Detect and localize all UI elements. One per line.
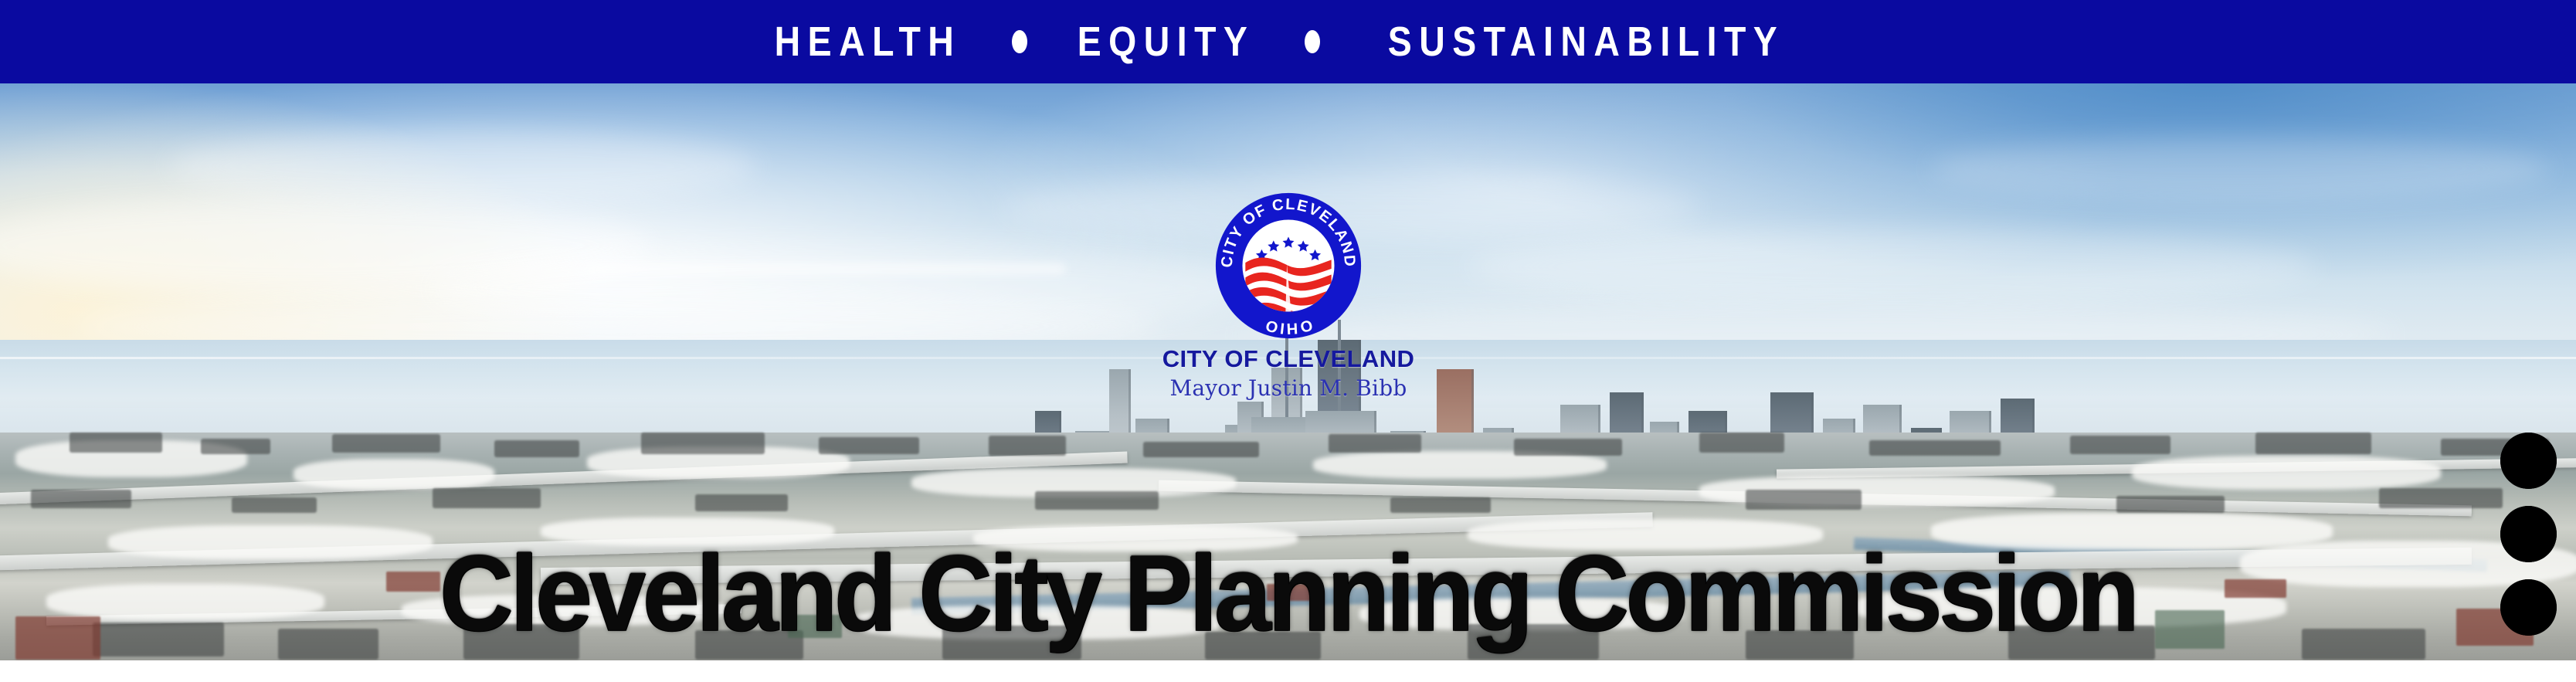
urban-block bbox=[695, 494, 788, 511]
logo-city-name: CITY OF CLEVELAND bbox=[1041, 346, 1536, 372]
tagline-bullet-icon-2 bbox=[1305, 30, 1320, 53]
city-of-cleveland-seal-icon: CITY OF CLEVELAND OHIO bbox=[1214, 192, 1363, 340]
urban-block bbox=[2070, 436, 2170, 454]
page-title: Cleveland City Planning Commission bbox=[53, 542, 2524, 644]
snow-patch bbox=[2132, 456, 2441, 490]
social-link-youtube[interactable] bbox=[2500, 433, 2557, 489]
urban-block bbox=[70, 433, 162, 453]
social-link-instagram[interactable] bbox=[2500, 506, 2557, 562]
urban-block bbox=[1329, 434, 1421, 453]
page-title-text: Cleveland City Planning Commission bbox=[440, 539, 2136, 647]
page-root: HEALTH EQUITY SUSTAINABILITY bbox=[0, 0, 2576, 682]
social-link-facebook[interactable] bbox=[2500, 579, 2557, 636]
city-logo-block: CITY OF CLEVELAND OHIO bbox=[1041, 192, 1536, 401]
urban-block bbox=[494, 440, 579, 457]
urban-block bbox=[31, 490, 131, 508]
cloud bbox=[1931, 137, 2549, 199]
urban-block bbox=[989, 436, 1066, 456]
urban-block bbox=[201, 439, 270, 454]
cloud-contrail bbox=[587, 263, 1066, 275]
urban-block bbox=[2379, 488, 2503, 508]
tagline-word-health: HEALTH bbox=[773, 21, 962, 63]
cloud bbox=[1468, 230, 2317, 304]
snow-patch bbox=[294, 459, 494, 490]
tagline-word-equity: EQUITY bbox=[1076, 21, 1256, 63]
urban-block bbox=[1514, 439, 1622, 456]
urban-block bbox=[1699, 433, 1784, 453]
logo-mayor-name: Mayor Justin M. Bibb bbox=[1041, 376, 1536, 401]
urban-block bbox=[2255, 433, 2371, 454]
urban-block bbox=[232, 497, 317, 513]
cloud bbox=[170, 130, 757, 203]
urban-block bbox=[2116, 496, 2225, 513]
urban-block bbox=[1143, 442, 1259, 457]
tagline-row: HEALTH EQUITY SUSTAINABILITY bbox=[758, 21, 1818, 63]
hero-photo: CITY OF CLEVELAND OHIO bbox=[0, 83, 2576, 660]
urban-block bbox=[1746, 490, 1862, 510]
urban-block bbox=[641, 433, 765, 454]
tagline-word-sustainability: SUSTAINABILITY bbox=[1386, 21, 1786, 63]
urban-block bbox=[819, 437, 919, 454]
social-links-rail bbox=[2500, 433, 2557, 636]
footer-whitespace bbox=[0, 660, 2576, 682]
urban-block bbox=[1035, 491, 1159, 510]
tagline-bullet-icon-1 bbox=[1012, 30, 1027, 53]
urban-block bbox=[332, 434, 440, 453]
urban-block bbox=[1869, 440, 2001, 456]
urban-block bbox=[433, 488, 541, 508]
urban-block bbox=[1390, 497, 1491, 513]
tagline-banner: HEALTH EQUITY SUSTAINABILITY bbox=[0, 0, 2576, 83]
